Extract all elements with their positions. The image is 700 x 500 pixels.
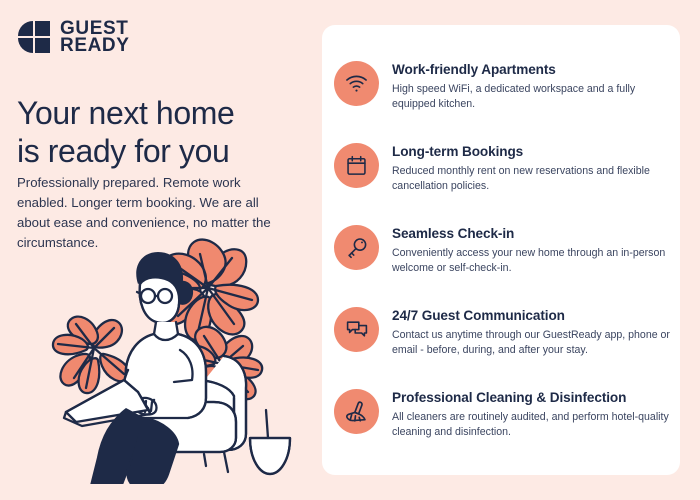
feature-title: 24/7 Guest Communication [392,308,670,325]
feature-text: Professional Cleaning & Disinfection All… [392,389,670,439]
list-item[interactable]: Professional Cleaning & Disinfection All… [334,389,670,449]
key-icon [334,225,379,270]
feature-desc: Contact us anytime through our GuestRead… [392,328,670,357]
feature-desc: Conveniently access your new home throug… [392,246,670,275]
feature-title: Work-friendly Apartments [392,62,670,79]
brand-logo[interactable]: GUEST READY [17,20,130,55]
list-item[interactable]: Work-friendly Apartments High speed WiFi… [334,61,670,121]
feature-title: Professional Cleaning & Disinfection [392,390,670,407]
feature-text: Work-friendly Apartments High speed WiFi… [392,61,670,111]
feature-text: Long-term Bookings Reduced monthly rent … [392,143,670,193]
feature-text: Seamless Check-in Conveniently access yo… [392,225,670,275]
wifi-icon [334,61,379,106]
feature-desc: Reduced monthly rent on new reservations… [392,164,670,193]
list-item[interactable]: 24/7 Guest Communication Contact us anyt… [334,307,670,367]
broom-icon [334,389,379,434]
plant-pot [250,410,290,474]
calendar-icon [334,143,379,188]
list-item[interactable]: Seamless Check-in Conveniently access yo… [334,225,670,285]
feature-list: Work-friendly Apartments High speed WiFi… [322,25,680,475]
promo-page: GUEST READY Your next home is ready for … [0,0,700,500]
feature-title: Seamless Check-in [392,226,670,243]
left-column: GUEST READY Your next home is ready for … [0,0,315,500]
hero-illustration [28,222,313,484]
chat-bubbles-icon [334,307,379,352]
feature-text: 24/7 Guest Communication Contact us anyt… [392,307,670,357]
page-title: Your next home is ready for you [17,95,307,169]
feature-title: Long-term Bookings [392,144,670,161]
list-item[interactable]: Long-term Bookings Reduced monthly rent … [334,143,670,203]
guestready-quadrant-logo-icon [17,20,51,54]
plant-small [53,317,130,393]
brand-name: GUEST READY [60,20,130,55]
feature-desc: High speed WiFi, a dedicated workspace a… [392,82,670,111]
features-card: Work-friendly Apartments High speed WiFi… [322,25,680,475]
feature-desc: All cleaners are routinely audited, and … [392,410,670,439]
